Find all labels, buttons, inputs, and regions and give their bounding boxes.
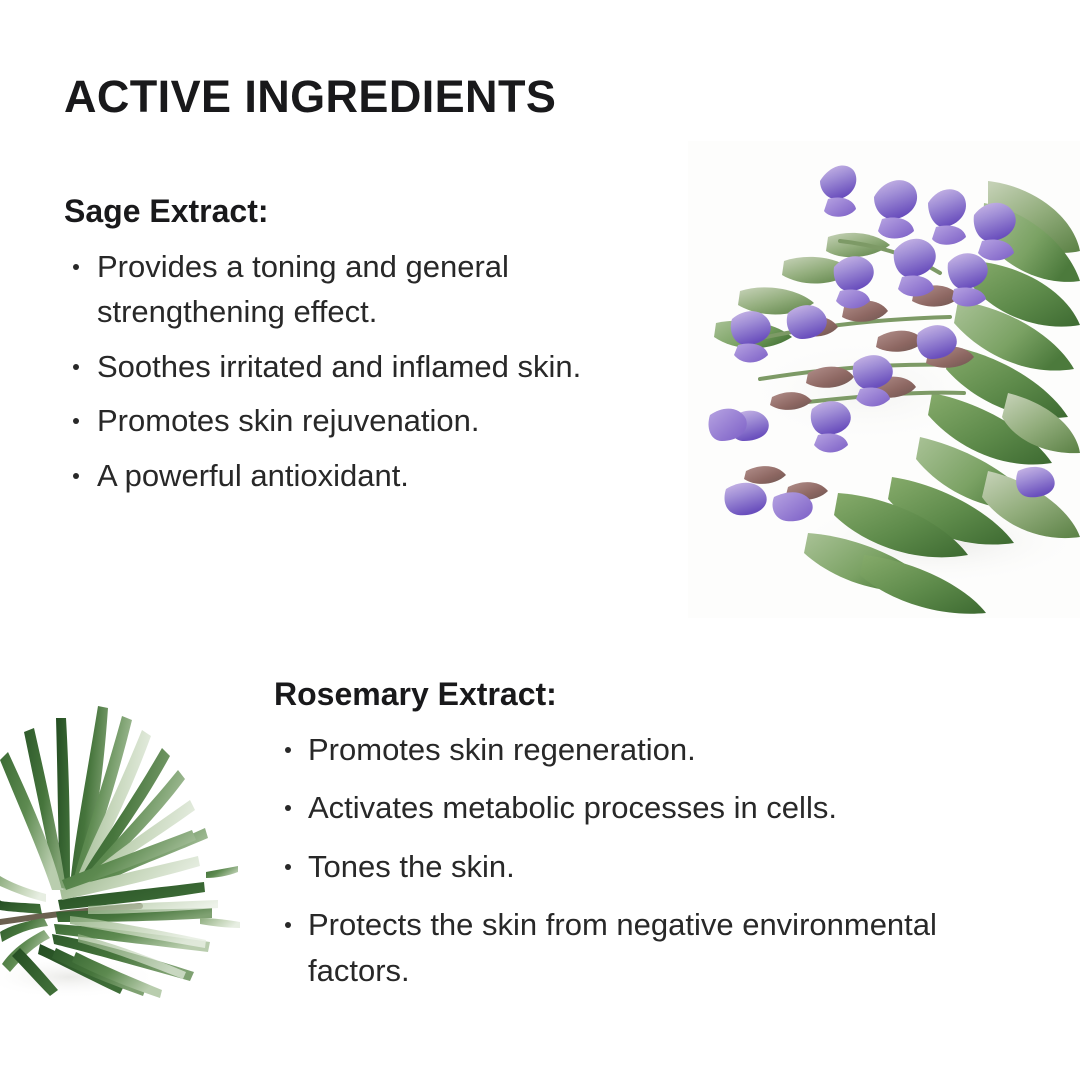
list-item-text: A powerful antioxidant. — [97, 458, 409, 493]
section-sage: Sage Extract: Provides a toning and gene… — [64, 193, 679, 508]
bullet-dot-icon — [285, 747, 291, 753]
list-item-text: Promotes skin rejuvenation. — [97, 403, 480, 438]
rosemary-illustration — [0, 672, 240, 1024]
bullet-dot-icon — [73, 264, 79, 270]
list-item: Protects the skin from negative environm… — [274, 902, 1014, 993]
list-item-text: Activates metabolic processes in cells. — [308, 790, 837, 825]
section-rosemary: Rosemary Extract: Promotes skin regenera… — [274, 676, 1014, 1007]
list-item: Promotes skin rejuvenation. — [64, 398, 679, 444]
bullet-dot-icon — [73, 364, 79, 370]
sage-illustration — [688, 141, 1080, 618]
bullet-dot-icon — [73, 473, 79, 479]
list-item: Provides a toning and general strengthen… — [64, 244, 679, 335]
sage-heading: Sage Extract: — [64, 193, 679, 230]
rosemary-photo — [0, 672, 240, 1024]
sage-bullet-list: Provides a toning and general strengthen… — [64, 244, 679, 499]
list-item-text: Soothes irritated and inflamed skin. — [97, 349, 581, 384]
bullet-dot-icon — [73, 418, 79, 424]
list-item: Activates metabolic processes in cells. — [274, 785, 1014, 831]
list-item-text: Tones the skin. — [308, 849, 515, 884]
sage-photo — [688, 141, 1080, 618]
list-item-text: Provides a toning and general strengthen… — [97, 249, 509, 330]
list-item: Tones the skin. — [274, 844, 1014, 890]
list-item: A powerful antioxidant. — [64, 453, 679, 499]
ingredients-slide: ACTIVE INGREDIENTS — [0, 0, 1080, 1080]
rosemary-heading: Rosemary Extract: — [274, 676, 1014, 713]
bullet-dot-icon — [285, 805, 291, 811]
list-item: Promotes skin regeneration. — [274, 727, 1014, 773]
bullet-dot-icon — [285, 922, 291, 928]
bullet-dot-icon — [285, 864, 291, 870]
rosemary-bullet-list: Promotes skin regeneration. Activates me… — [274, 727, 1014, 994]
list-item-text: Protects the skin from negative environm… — [308, 907, 937, 988]
page-title: ACTIVE INGREDIENTS — [64, 73, 556, 120]
list-item: Soothes irritated and inflamed skin. — [64, 344, 679, 390]
list-item-text: Promotes skin regeneration. — [308, 732, 696, 767]
